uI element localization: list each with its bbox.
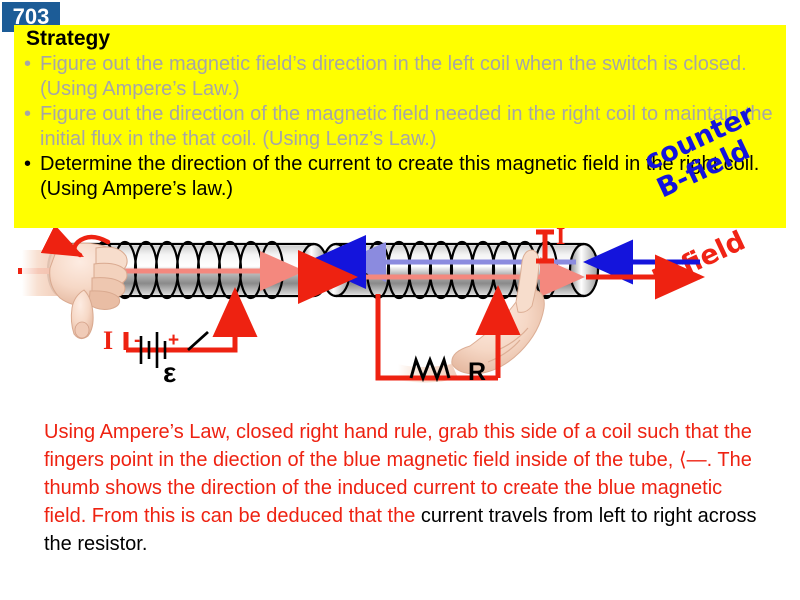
explanation-paragraph: Using Ampere’s Law, closed right hand ru… xyxy=(44,418,764,558)
bullet-marker-icon: • xyxy=(24,52,40,77)
strategy-bullet-1-text: Figure out the magnetic field’s directio… xyxy=(40,52,778,102)
strategy-heading: Strategy xyxy=(26,27,778,51)
left-current-label: I xyxy=(103,326,113,356)
bullet-marker-icon: • xyxy=(24,102,40,127)
solenoid-circuit-diagram xyxy=(0,228,800,403)
right-current-label: I xyxy=(556,224,565,251)
strategy-bullet-1: • Figure out the magnetic field’s direct… xyxy=(24,52,778,102)
battery-negative-label: - xyxy=(134,330,140,352)
left-circuit-wires xyxy=(126,294,235,350)
bullet-marker-icon: • xyxy=(24,152,40,177)
battery-positive-label: + xyxy=(168,330,179,352)
emf-label: ε xyxy=(163,357,176,389)
switch-lever-icon xyxy=(188,332,208,350)
resistor-label: R xyxy=(468,358,486,387)
left-hand-grip-icon xyxy=(22,243,127,338)
